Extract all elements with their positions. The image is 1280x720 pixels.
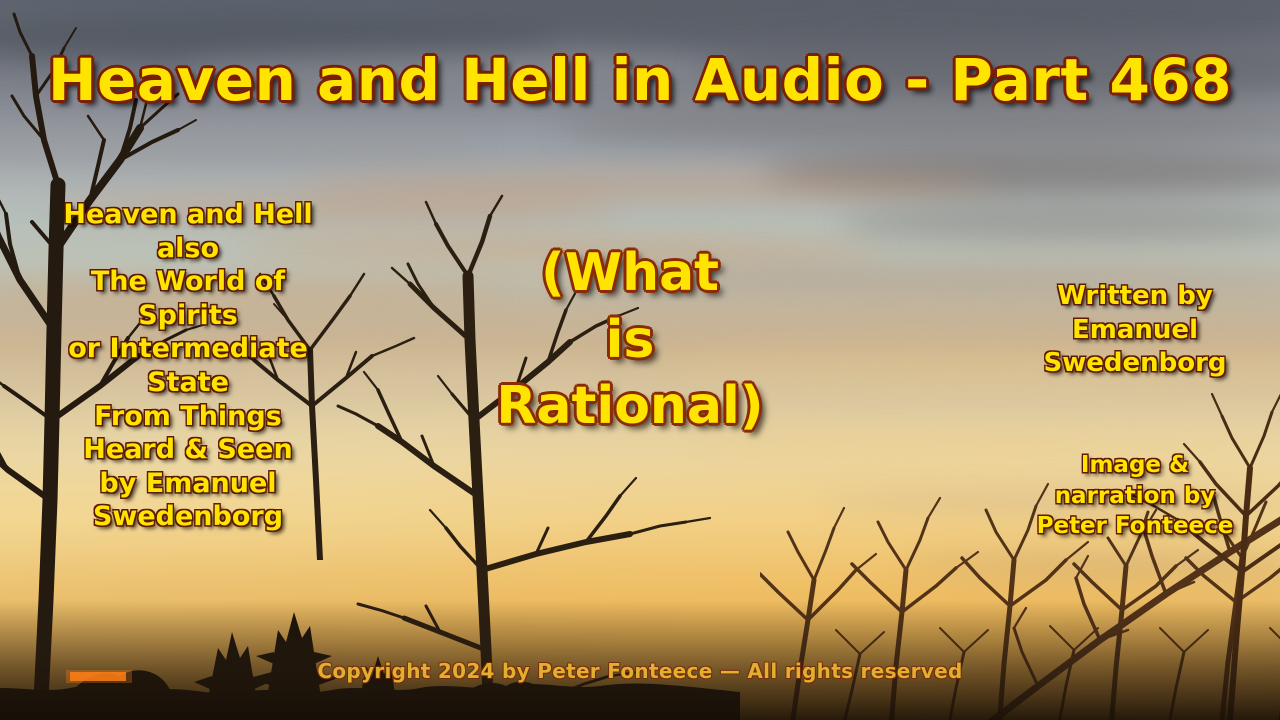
narration-credit-block: Image & narration by Peter Fonteece bbox=[1000, 450, 1270, 542]
book-title-block: Heaven and Hell also The World of Spirit… bbox=[18, 198, 358, 534]
episode-subject-block: (What is Rational) bbox=[450, 240, 810, 440]
page-title: Heaven and Hell in Audio - Part 468 bbox=[0, 46, 1280, 114]
slide-canvas: Heaven and Hell in Audio - Part 468 Heav… bbox=[0, 0, 1280, 720]
copyright-notice: Copyright 2024 by Peter Fonteece — All r… bbox=[0, 659, 1280, 683]
author-credit-block: Written by Emanuel Swedenborg bbox=[1000, 280, 1270, 381]
